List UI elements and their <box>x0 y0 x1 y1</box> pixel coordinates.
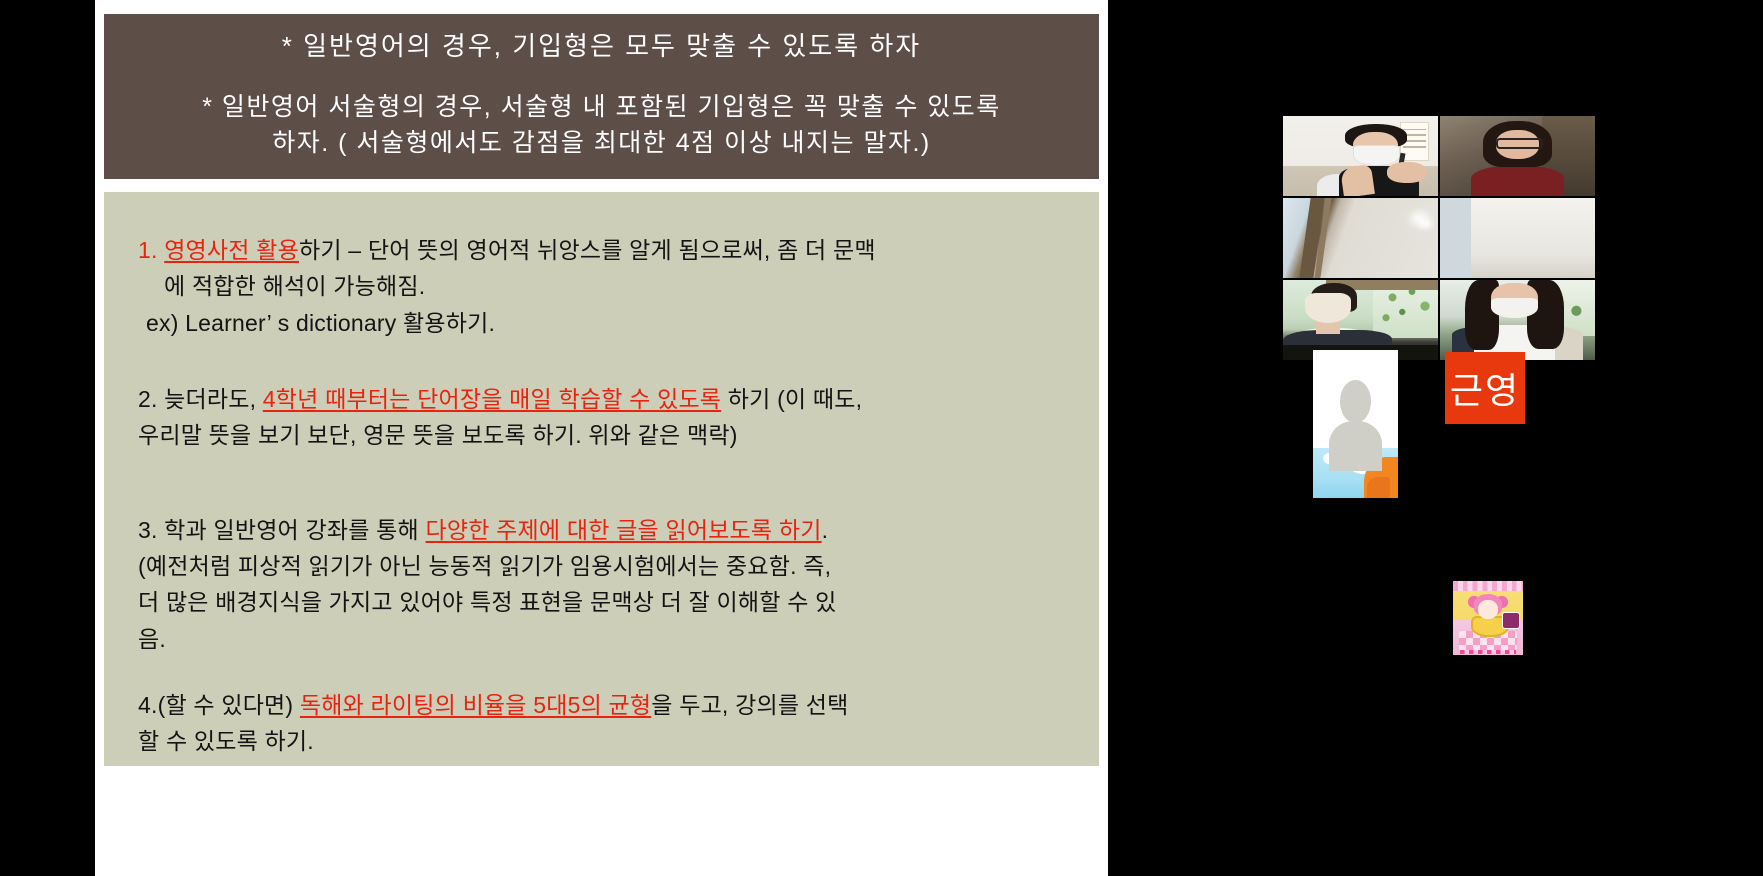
screen-root: * 일반영어의 경우, 기입형은 모두 맞출 수 있도록 하자 * 일반영어 서… <box>0 0 1763 876</box>
item2-tail: 하기 (이 때도, <box>721 386 862 412</box>
spacer <box>138 341 1065 381</box>
item3-continued-2: 더 많은 배경지식을 가지고 있어야 특정 표현을 문맥상 더 잘 이해할 수 … <box>138 584 1065 620</box>
shared-screen-area[interactable]: * 일반영어의 경우, 기입형은 모두 맞출 수 있도록 하자 * 일반영어 서… <box>95 0 1108 876</box>
video-feed <box>1283 198 1438 278</box>
item1-number: 1. <box>138 237 158 263</box>
item3-lead: 3. 학과 일반영어 강좌를 통해 <box>138 517 426 543</box>
participant-tile-2[interactable] <box>1283 198 1438 278</box>
banner-line-2b: 하자. ( 서술형에서도 감점을 최대한 4점 이상 내지는 말자.) <box>114 125 1089 161</box>
item3-continued-3: 음. <box>138 621 1065 657</box>
participant-name-label: 근영 <box>1450 362 1520 414</box>
video-feed <box>1283 280 1438 360</box>
spacer <box>138 494 1065 512</box>
avatar-placeholder <box>1313 350 1398 498</box>
spacer <box>138 657 1065 687</box>
spacer <box>138 454 1065 494</box>
item4-highlight: 독해와 라이팅의 비율을 5대5의 균형 <box>300 692 651 718</box>
item1-rest: 하기 – 단어 뜻의 영어적 뉘앙스를 알게 됨으로써, 좀 더 문맥 <box>299 237 876 263</box>
banner-line-2: * 일반영어 서술형의 경우, 서술형 내 포함된 기입형은 꼭 맞출 수 있도… <box>114 89 1089 162</box>
item4-lead: 4.(할 수 있다면) <box>138 692 300 718</box>
item2-continued: 우리말 뜻을 보기 보단, 영문 뜻을 보도록 하기. 위와 같은 맥락) <box>138 417 1065 453</box>
banner-line-2a: * 일반영어 서술형의 경우, 서술형 내 포함된 기입형은 꼭 맞출 수 있도… <box>114 89 1089 125</box>
presentation-slide: * 일반영어의 경우, 기입형은 모두 맞출 수 있도록 하자 * 일반영어 서… <box>95 0 1108 876</box>
participant-tile-8-name-only[interactable]: 근영 <box>1445 352 1525 424</box>
item2-lead: 2. 늦더라도, <box>138 386 263 412</box>
item1-example: ex) Learner’ s dictionary 활용하기. <box>138 305 1065 341</box>
item3-tail: . <box>822 517 829 543</box>
item2-highlight: 4학년 때부터는 단어장을 매일 학습할 수 있도록 <box>263 386 721 412</box>
item3-highlight: 다양한 주제에 대한 글을 읽어보도록 하기 <box>426 517 822 543</box>
participant-tile-4[interactable] <box>1440 116 1595 196</box>
item1-highlight: 영영사전 활용 <box>164 237 299 263</box>
participant-tile-3[interactable] <box>1283 280 1438 360</box>
participant-tile-6[interactable] <box>1440 280 1595 360</box>
participant-video-rail: 근영 <box>1108 0 1763 876</box>
video-feed <box>1440 198 1595 278</box>
participant-tile-1[interactable] <box>1283 116 1438 196</box>
slide-body: 1. 영영사전 활용하기 – 단어 뜻의 영어적 뉘앙스를 알게 됨으로써, 좀… <box>104 192 1099 766</box>
slide-item-4: 4.(할 수 있다면) 독해와 라이팅의 비율을 5대5의 균형을 두고, 강의… <box>138 687 1065 760</box>
slide-item-1: 1. 영영사전 활용하기 – 단어 뜻의 영어적 뉘앙스를 알게 됨으로써, 좀… <box>138 232 1065 341</box>
item4-continued: 할 수 있도록 하기. <box>138 723 1065 759</box>
video-feed <box>1440 116 1595 196</box>
banner-line-1: * 일반영어의 경우, 기입형은 모두 맞출 수 있도록 하자 <box>114 30 1089 63</box>
slide-item-3: 3. 학과 일반영어 강좌를 통해 다양한 주제에 대한 글을 읽어보도록 하기… <box>138 512 1065 657</box>
participant-tile-9[interactable] <box>1453 581 1523 655</box>
participant-tile-5[interactable] <box>1440 198 1595 278</box>
video-feed <box>1440 280 1595 360</box>
slide-banner: * 일반영어의 경우, 기입형은 모두 맞출 수 있도록 하자 * 일반영어 서… <box>104 14 1099 179</box>
item3-continued-1: (예전처럼 피상적 읽기가 아닌 능동적 읽기가 임용시험에서는 중요함. 즉, <box>138 548 1065 584</box>
shared-image-feed <box>1453 581 1523 655</box>
video-feed <box>1283 116 1438 196</box>
item1-continued: 에 적합한 해석이 가능해짐. <box>138 268 1065 304</box>
slide-item-2: 2. 늦더라도, 4학년 때부터는 단어장을 매일 학습할 수 있도록 하기 (… <box>138 381 1065 454</box>
item4-tail: 을 두고, 강의를 선택 <box>651 692 848 718</box>
participant-tile-7[interactable] <box>1313 350 1398 498</box>
